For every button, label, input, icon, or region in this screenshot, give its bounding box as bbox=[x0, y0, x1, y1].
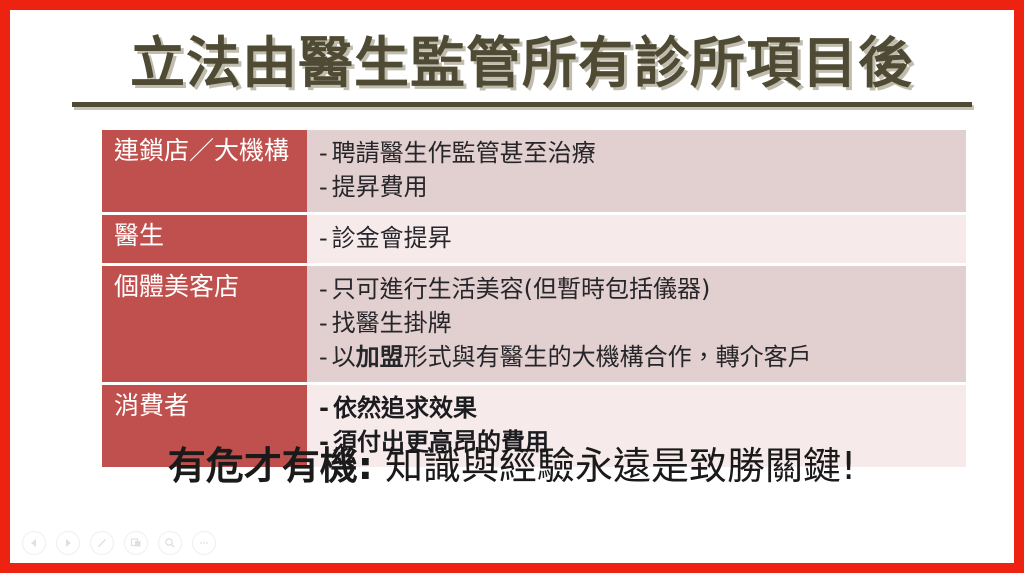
slide-title-block: 立法由醫生監管所有診所項目後 bbox=[72, 30, 972, 107]
bullet-item: -找醫生掛牌 bbox=[319, 306, 966, 340]
ellipsis-icon bbox=[198, 537, 210, 549]
slides-icon bbox=[130, 537, 142, 549]
table-row-header: 個體美客店 bbox=[102, 266, 307, 382]
more-options-button[interactable] bbox=[192, 531, 216, 555]
triangle-left-icon bbox=[29, 538, 39, 548]
bullet-dash: - bbox=[319, 173, 328, 201]
bullet-dash: - bbox=[319, 275, 328, 303]
previous-slide-button[interactable] bbox=[22, 531, 46, 555]
presentation-slide: 立法由醫生監管所有診所項目後 連鎖店／大機構 -聘請醫生作監管甚至治療 -提昇費… bbox=[0, 0, 1024, 573]
bullet-text-pre: 以 bbox=[332, 343, 356, 371]
bullet-text: 診金會提昇 bbox=[332, 224, 452, 252]
triangle-right-icon bbox=[63, 538, 73, 548]
table-row: 個體美客店 -只可進行生活美容(但暫時包括儀器) -找醫生掛牌 -以加盟形式與有… bbox=[102, 266, 966, 382]
zoom-tool-button[interactable] bbox=[158, 531, 182, 555]
magnifier-icon bbox=[164, 537, 176, 549]
next-slide-button[interactable] bbox=[56, 531, 80, 555]
pen-icon bbox=[96, 537, 108, 549]
footer-rest-text: 知識與經驗永遠是致勝關鍵! bbox=[373, 444, 856, 488]
page-title: 立法由醫生監管所有診所項目後 bbox=[72, 30, 972, 96]
footer-lead-text: 有危才有機: bbox=[168, 444, 373, 488]
table-row: 連鎖店／大機構 -聘請醫生作監管甚至治療 -提昇費用 bbox=[102, 130, 966, 212]
bullet-item: -提昇費用 bbox=[319, 170, 966, 204]
bullet-item: -以加盟形式與有醫生的大機構合作，轉介客戶 bbox=[319, 340, 966, 374]
slideshow-control-bar[interactable] bbox=[22, 531, 216, 555]
slide-overview-button[interactable] bbox=[124, 531, 148, 555]
bullet-text-post: 形式與有醫生的大機構合作，轉介客戶 bbox=[404, 343, 812, 371]
table-row-header: 連鎖店／大機構 bbox=[102, 130, 307, 212]
impact-table: 連鎖店／大機構 -聘請醫生作監管甚至治療 -提昇費用 醫生 -診金會提昇 個體美… bbox=[102, 130, 966, 470]
pen-tool-button[interactable] bbox=[90, 531, 114, 555]
bullet-item: -診金會提昇 bbox=[319, 221, 966, 255]
table-row-content: -聘請醫生作監管甚至治療 -提昇費用 bbox=[307, 130, 966, 212]
bullet-text: 只可進行生活美容(但暫時包括儀器) bbox=[332, 275, 711, 303]
bullet-dash: - bbox=[319, 309, 328, 337]
bullet-text-emphasis: 加盟 bbox=[356, 343, 404, 371]
bullet-item: -只可進行生活美容(但暫時包括儀器) bbox=[319, 272, 966, 306]
bullet-text: 依然追求效果 bbox=[333, 394, 477, 422]
bullet-text: 找醫生掛牌 bbox=[332, 309, 452, 337]
title-underline bbox=[72, 102, 972, 107]
bullet-item: -聘請醫生作監管甚至治療 bbox=[319, 136, 966, 170]
bullet-dash: - bbox=[319, 139, 328, 167]
bullet-item: -依然追求效果 bbox=[319, 391, 966, 425]
table-row-header: 醫生 bbox=[102, 215, 307, 263]
bullet-text: 聘請醫生作監管甚至治療 bbox=[332, 139, 596, 167]
table-row-content: -只可進行生活美容(但暫時包括儀器) -找醫生掛牌 -以加盟形式與有醫生的大機構… bbox=[307, 266, 966, 382]
table-row: 醫生 -診金會提昇 bbox=[102, 215, 966, 263]
bullet-dash: - bbox=[319, 343, 328, 371]
table-row-content: -診金會提昇 bbox=[307, 215, 966, 263]
bullet-dash: - bbox=[319, 224, 328, 252]
bullet-text: 提昇費用 bbox=[332, 173, 428, 201]
bullet-dash: - bbox=[319, 394, 329, 422]
slide-footer-statement: 有危才有機: 知識與經驗永遠是致勝關鍵! bbox=[10, 442, 1014, 490]
